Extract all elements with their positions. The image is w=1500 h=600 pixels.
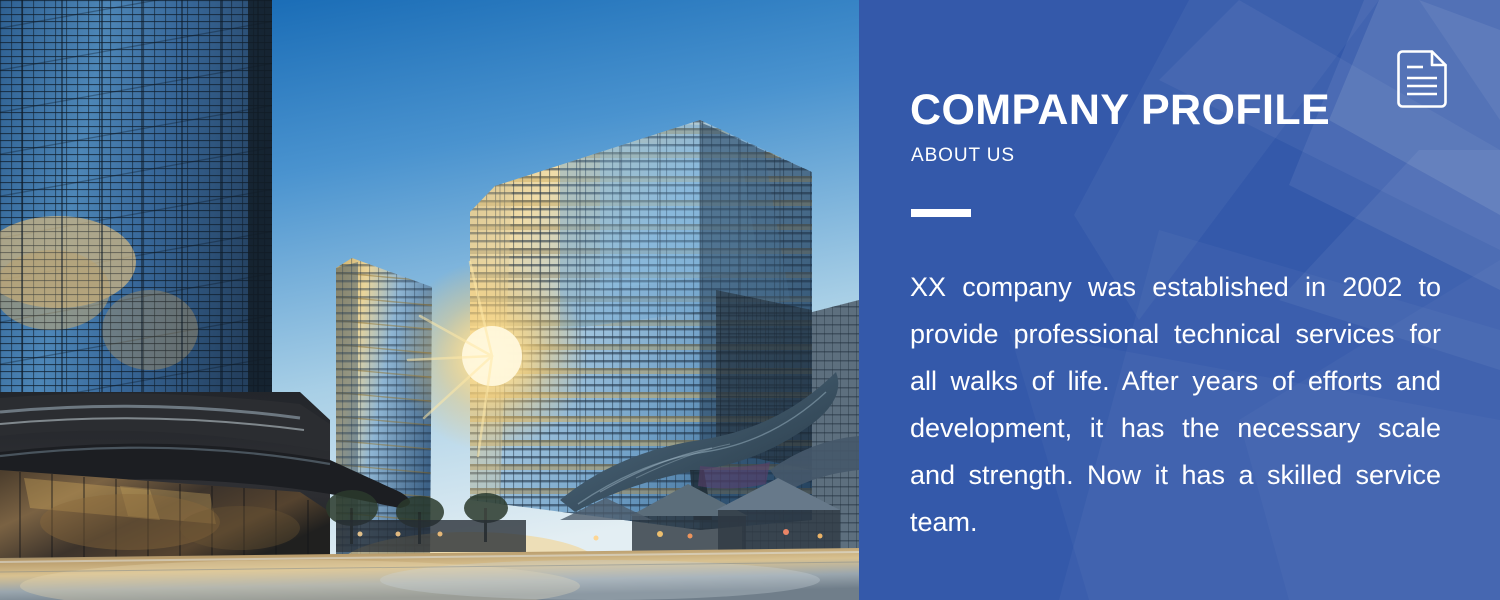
document-icon: [1394, 50, 1450, 110]
document-icon-glyph: [1394, 50, 1450, 110]
company-description: XX company was established in 2002 to pr…: [910, 264, 1441, 593]
building-photo: [0, 0, 859, 600]
company-profile-panel: COMPANY PROFILE ABOUT US XX company was …: [859, 0, 1500, 600]
panel-content: COMPANY PROFILE ABOUT US XX company was …: [859, 0, 1500, 600]
accent-divider: [911, 209, 971, 217]
page-title: COMPANY PROFILE: [910, 89, 1330, 132]
company-profile-slide: COMPANY PROFILE ABOUT US XX company was …: [0, 0, 1500, 600]
page-subtitle: ABOUT US: [911, 146, 1015, 165]
building-photo-illustration: [0, 0, 859, 600]
